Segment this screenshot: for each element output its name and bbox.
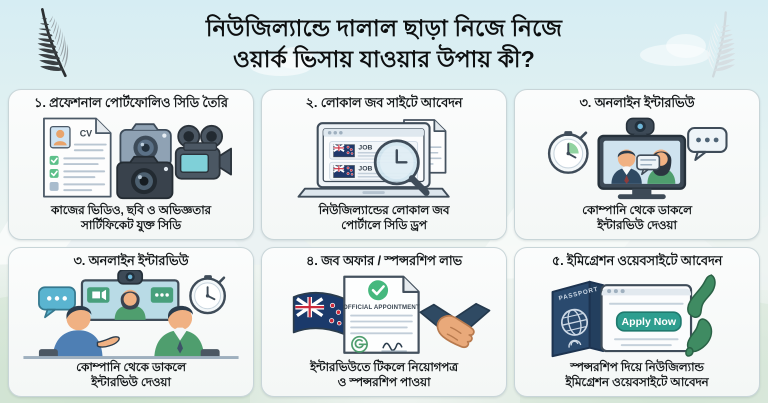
step-card-2-title: ২. লোকাল জব সাইটে আবেদন	[306, 95, 463, 111]
step-card-6-title: ৫. ইমিগ্রেশন ওয়েবসাইটে আবেদন	[552, 253, 722, 269]
page-header: নিউজিল্যান্ডে দালাল ছাড়া নিজে নিজে ওয়া…	[0, 0, 768, 88]
step-card-4-title: ৩. অনলাইন ইন্টারভিউ	[74, 253, 189, 269]
step-card-6[interactable]: ৫. ইমিগ্রেশন ওয়েবসাইটে আবেদন PASSPORT	[514, 247, 760, 398]
passport-browser-nzmap-icon: PASSPORT	[519, 270, 755, 360]
job-label-2: JOB	[358, 165, 372, 172]
step-card-1-title: ১. প্রফেশনাল পোর্টফোলিও সিডি তৈরি	[34, 95, 228, 111]
step-card-5-description: ইন্টারভিউতে টিকলে নিয়োগপত্র ও স্পন্সরশি…	[310, 360, 458, 392]
appointment-handshake-icon: OFFICIAL APPOINTMENT	[266, 270, 502, 360]
step-card-3-description: কোম্পানি থেকে ডাকলে ইন্টারভিউ দেওয়া	[582, 203, 692, 235]
step-card-5-art: OFFICIAL APPOINTMENT	[266, 269, 502, 361]
step-card-1-desc-line-1: কাজের ভিডিও, ছবি ও অভিজ্ঞতার	[51, 203, 211, 218]
step-card-1-art: CV	[13, 111, 249, 203]
step-card-3-title: ৩. অনলাইন ইন্টারভিউ	[580, 95, 695, 111]
step-card-4-desc-line-2: ইন্টারভিউ দেওয়া	[76, 375, 186, 390]
step-card-4-desc-line-1: কোম্পানি থেকে ডাকলে	[76, 360, 186, 375]
laptop-joblist-magnifier-icon: JOB	[266, 112, 502, 202]
step-card-1[interactable]: ১. প্রফেশনাল পোর্টফোলিও সিডি তৈরি CV	[8, 89, 254, 240]
step-card-3[interactable]: ৩. অনলাইন ইন্টারভিউ	[514, 89, 760, 240]
step-card-6-desc-line-2: ইমিগ্রেশন ওয়েবসাইটে আবেদন	[565, 375, 708, 390]
step-card-3-art	[519, 111, 755, 203]
step-card-5-title: ৪. জব অফার / স্পন্সরশিপ লাভ	[306, 253, 462, 269]
step-card-6-art: PASSPORT	[519, 269, 755, 361]
step-card-1-desc-line-2: সার্টিফিকেট যুক্ত সিডি	[51, 218, 211, 233]
cv-camera-camcorder-icon: CV	[13, 112, 249, 202]
step-card-2[interactable]: ২. লোকাল জব সাইটে আবেদন	[261, 89, 507, 240]
step-card-6-description: স্পন্সরশিপ দিয়ে নিউজিল্যান্ড ইমিগ্রেশন …	[565, 360, 708, 392]
cv-label: CV	[80, 128, 92, 138]
page-title-line-1: নিউজিল্যান্ডে দালাল ছাড়া নিজে নিজে	[206, 13, 562, 44]
step-card-4-art	[13, 269, 249, 361]
infographic-canvas: নিউজিল্যান্ডে দালাল ছাড়া নিজে নিজে ওয়া…	[0, 0, 768, 403]
step-card-2-description: নিউজিল্যান্ডের লোকাল জব পোর্টালে সিডি ড্…	[319, 203, 450, 235]
apply-now-button-label: Apply Now	[622, 315, 677, 327]
step-card-4[interactable]: ৩. অনলাইন ইন্টারভিউ	[8, 247, 254, 398]
step-card-5[interactable]: ৪. জব অফার / স্পন্সরশিপ লাভ	[261, 247, 507, 398]
monitor-videocall-icon	[519, 112, 755, 202]
job-label-1: JOB	[358, 145, 372, 152]
step-card-2-art: JOB	[266, 111, 502, 203]
panel-interview-icon	[13, 270, 249, 360]
step-card-1-description: কাজের ভিডিও, ছবি ও অভিজ্ঞতার সার্টিফিকেট…	[51, 203, 211, 235]
step-card-5-desc-line-2: ও স্পন্সরশিপ পাওয়া	[310, 375, 458, 390]
step-card-6-desc-line-1: স্পন্সরশিপ দিয়ে নিউজিল্যান্ড	[565, 360, 708, 375]
step-card-2-desc-line-2: পোর্টালে সিডি ড্রপ	[319, 218, 450, 233]
step-card-3-desc-line-1: কোম্পানি থেকে ডাকলে	[582, 203, 692, 218]
page-title-line-2: ওয়ার্ক ভিসায় যাওয়ার উপায় কী?	[233, 44, 535, 75]
step-card-4-description: কোম্পানি থেকে ডাকলে ইন্টারভিউ দেওয়া	[76, 360, 186, 392]
steps-grid: ১. প্রফেশনাল পোর্টফোলিও সিডি তৈরি CV	[8, 89, 760, 397]
document-title-label: OFFICIAL APPOINTMENT	[343, 304, 420, 310]
step-card-2-desc-line-1: নিউজিল্যান্ডের লোকাল জব	[319, 203, 450, 218]
step-card-5-desc-line-1: ইন্টারভিউতে টিকলে নিয়োগপত্র	[310, 360, 458, 375]
step-card-3-desc-line-2: ইন্টারভিউ দেওয়া	[582, 218, 692, 233]
